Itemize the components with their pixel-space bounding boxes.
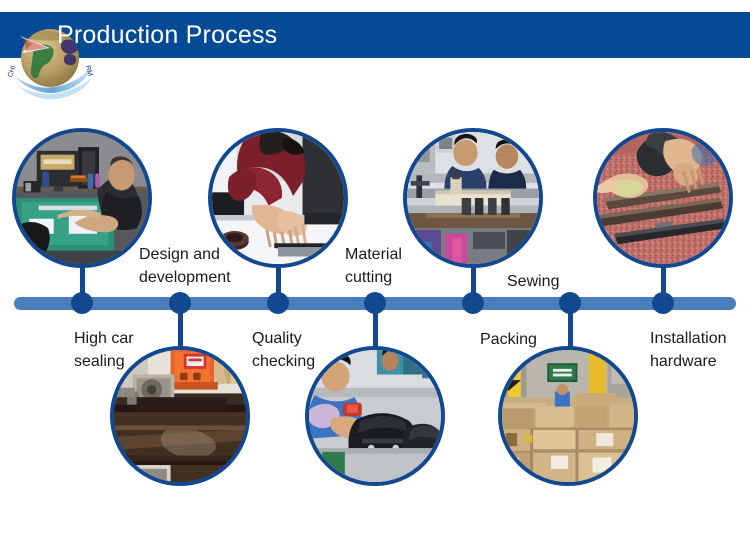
step-image-high-car-sealing (12, 128, 152, 268)
step-label-high-car-sealing: High car sealing (74, 327, 134, 373)
step-label-packing: Packing (480, 328, 537, 351)
production-process-infographic: CHI RM Production Process (0, 0, 750, 539)
step-label-installation-hardware: Installation hardware (650, 327, 727, 373)
page-title: Production Process (57, 19, 277, 52)
step-image-installation-hardware (593, 128, 733, 268)
step-label-sewing: Sewing (507, 270, 559, 293)
logo-left-text: CHI (7, 65, 17, 79)
step-label-quality-checking: Quality checking (252, 327, 315, 373)
step-image-sewing (498, 346, 638, 486)
step-label-design-and-development: Design and development (139, 243, 231, 289)
connector-stem (178, 300, 183, 348)
connector-stem (373, 300, 378, 348)
step-image-material-cutting (305, 346, 445, 486)
step-image-packing (403, 128, 543, 268)
connector-stem (568, 300, 573, 348)
step-label-material-cutting: Material cutting (345, 243, 402, 289)
